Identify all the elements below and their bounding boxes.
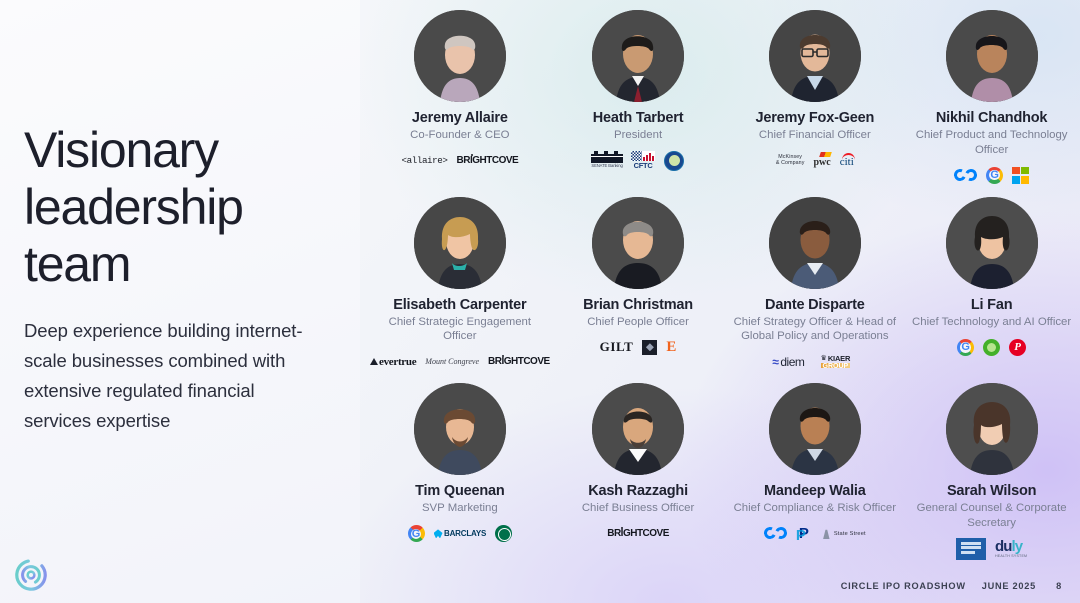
person-logos: BRIGHTCOVE <box>607 523 669 545</box>
state-street-logo: State Street <box>821 528 866 539</box>
person-logos: GILT E <box>600 336 677 358</box>
person-name: Jeremy Fox-Geen <box>755 110 874 126</box>
diem-logo: ≈ diem <box>772 355 804 369</box>
google-logo <box>408 525 425 542</box>
person-title: President <box>614 128 662 143</box>
slide-footer: CIRCLE IPO ROADSHOW JUNE 2025 8 <box>841 581 1062 591</box>
person-name: Tim Queenan <box>415 483 504 499</box>
person-card[interactable]: Kash Razzaghi Chief Business Officer BRI… <box>550 377 727 564</box>
person-logos: SENATE Banking CFTC <box>592 150 684 172</box>
person-card[interactable]: Tim Queenan SVP Marketing BARCLAYS <box>370 377 550 564</box>
avatar <box>592 197 684 289</box>
avatar <box>769 383 861 475</box>
brightcove-logo: BRIGHTCOVE <box>457 155 519 166</box>
senate-banking-logo: SENATE Banking <box>592 154 622 168</box>
government-seal-logo <box>664 151 684 171</box>
person-logos: McKinsey & Company pwc citi <box>776 150 854 172</box>
person-name: Heath Tarbert <box>593 110 684 126</box>
avatar <box>414 383 506 475</box>
person-name: Kash Razzaghi <box>588 483 688 499</box>
slide-canvas: Visionary leadership team Deep experienc… <box>0 0 1080 603</box>
person-card[interactable]: Sarah Wilson General Counsel & Corporate… <box>903 377 1080 564</box>
page-number: 8 <box>1052 581 1062 591</box>
person-title: Chief Strategic Engagement Officer <box>374 315 546 344</box>
avatar <box>769 197 861 289</box>
person-logos: evertrue Mount Congreve BRIGHTCOVE <box>370 351 550 373</box>
duly-logo: duly HEALTH SYSTEM <box>995 539 1027 558</box>
avatar <box>592 383 684 475</box>
person-name: Mandeep Walia <box>764 483 866 499</box>
person-title: General Counsel & Corporate Secretary <box>906 501 1078 530</box>
person-title: Chief Technology and AI Officer <box>912 315 1071 330</box>
state-street-icon <box>821 528 832 539</box>
google-logo <box>986 167 1003 184</box>
person-card[interactable]: Jeremy Allaire Co-Founder & CEO <allaire… <box>370 4 550 191</box>
person-logos: State Street <box>764 523 866 545</box>
person-title: Chief Financial Officer <box>759 128 871 143</box>
evertrue-logo: evertrue <box>370 356 416 368</box>
microsoft-logo <box>1012 167 1029 184</box>
page-title: Visionary leadership team <box>24 122 344 293</box>
instacart-logo <box>983 339 1000 356</box>
starbucks-logo <box>495 525 512 542</box>
person-title: Chief Business Officer <box>582 501 694 516</box>
university-logo <box>956 538 986 560</box>
person-title: Chief Product and Technology Officer <box>906 128 1078 157</box>
person-name: Jeremy Allaire <box>412 110 508 126</box>
mount-congreve-logo: Mount Congreve <box>425 357 479 366</box>
footer-date: JUNE 2025 <box>982 581 1036 591</box>
google-logo <box>957 339 974 356</box>
person-logos <box>954 164 1029 186</box>
citi-logo: citi <box>840 153 854 168</box>
person-logos: <allaire> BRIGHTCOVE <box>401 150 518 172</box>
person-logos: P <box>957 336 1026 358</box>
person-logos: duly HEALTH SYSTEM <box>956 538 1027 560</box>
circle-logo <box>15 559 47 591</box>
person-card[interactable]: Jeremy Fox-Geen Chief Financial Officer … <box>726 4 903 191</box>
person-title: SVP Marketing <box>422 501 498 516</box>
kiaer-group-logo: ♛ KIAER GROUP <box>813 354 857 370</box>
barclays-eagle-icon <box>434 529 443 538</box>
person-card[interactable]: Heath Tarbert President SENATE Banking <box>550 4 727 191</box>
cftc-checker <box>631 151 642 161</box>
person-name: Nikhil Chandhok <box>936 110 1047 126</box>
pinterest-logo: P <box>1009 339 1026 356</box>
mckinsey-logo: McKinsey & Company <box>776 155 805 166</box>
person-card[interactable]: Nikhil Chandhok Chief Product and Techno… <box>903 4 1080 191</box>
person-title: Chief Compliance & Risk Officer <box>734 501 896 516</box>
person-logos: BARCLAYS <box>408 523 513 545</box>
avatar <box>946 197 1038 289</box>
avatar <box>946 383 1038 475</box>
brightcove-dot <box>471 154 473 156</box>
person-card[interactable]: Dante Disparte Chief Strategy Officer & … <box>726 191 903 378</box>
barclays-logo: BARCLAYS <box>434 529 487 538</box>
avatar <box>946 10 1038 102</box>
cftc-logo: CFTC <box>631 151 655 170</box>
person-name: Brian Christman <box>583 297 693 313</box>
senate-bar <box>591 154 622 163</box>
leadership-grid: Jeremy Allaire Co-Founder & CEO <allaire… <box>370 4 1080 564</box>
brightcove-logo: BRIGHTCOVE <box>607 528 669 539</box>
avatar <box>414 197 506 289</box>
avatar <box>592 10 684 102</box>
person-title: Co-Founder & CEO <box>410 128 509 143</box>
person-card[interactable]: Li Fan Chief Technology and AI Officer P <box>903 191 1080 378</box>
person-title: Chief Strategy Officer & Head of Global … <box>729 315 901 344</box>
gilt-logo: GILT <box>600 339 634 355</box>
left-text-panel: Visionary leadership team Deep experienc… <box>0 0 360 603</box>
person-logos: ≈ diem ♛ KIAER GROUP <box>772 351 857 373</box>
cftc-bars <box>642 151 655 161</box>
pwc-logo: pwc <box>813 153 830 168</box>
footer-deck-name: CIRCLE IPO ROADSHOW <box>841 581 966 591</box>
avatar <box>414 10 506 102</box>
crown-icon: ♛ <box>821 355 827 362</box>
diem-wave-icon: ≈ <box>772 356 778 368</box>
person-name: Sarah Wilson <box>947 483 1036 499</box>
meta-logo <box>954 168 977 183</box>
page-subtitle: Deep experience building internet-scale … <box>24 316 324 436</box>
person-name: Dante Disparte <box>765 297 865 313</box>
paypal-logo <box>796 525 812 542</box>
brightcove-logo: BRIGHTCOVE <box>488 356 550 367</box>
etsy-logo: E <box>666 340 676 355</box>
person-card[interactable]: Elisabeth Carpenter Chief Strategic Enga… <box>370 191 550 378</box>
meta-logo <box>764 526 787 541</box>
person-name: Elisabeth Carpenter <box>393 297 526 313</box>
person-title: Chief People Officer <box>587 315 689 330</box>
tumblr-logo <box>642 340 657 355</box>
person-name: Li Fan <box>971 297 1013 313</box>
person-card[interactable]: Brian Christman Chief People Officer GIL… <box>550 191 727 378</box>
person-card[interactable]: Mandeep Walia Chief Compliance & Risk Of… <box>726 377 903 564</box>
allaire-logo: <allaire> <box>401 155 447 166</box>
avatar <box>769 10 861 102</box>
